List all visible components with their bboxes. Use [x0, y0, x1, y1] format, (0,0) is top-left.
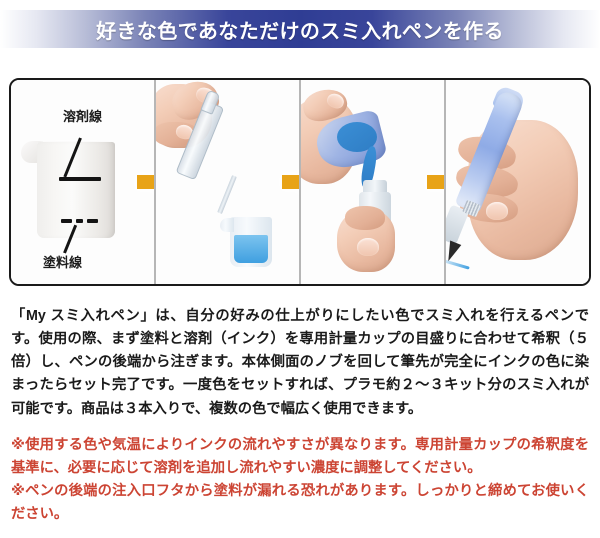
steps-illustration-frame: 溶剤線 塗料線 [9, 78, 591, 286]
right-arrow-icon [427, 167, 444, 197]
right-arrow-icon [137, 167, 154, 197]
paint-line-mark-dash-1 [61, 219, 72, 223]
paint-line-label: 塗料線 [43, 252, 82, 271]
step-panel-3-pour [299, 80, 444, 284]
page-title: 好きな色であなただけのスミ入れペンを作る [96, 15, 504, 44]
pour-photo [301, 80, 444, 284]
caution-note-1: ※使用する色や気温によりインクの流れやすさが異なります。専用計量カップの希釈度を… [11, 434, 589, 480]
caution-notes: ※使用する色や気温によりインクの流れやすさが異なります。専用計量カップの希釈度を… [11, 434, 589, 527]
solvent-line-mark [59, 177, 101, 181]
right-thumb-nail [357, 238, 379, 256]
paint-line-mark-dash-2 [76, 219, 83, 223]
step-panel-1-measuring-cup: 溶剤線 塗料線 [11, 80, 154, 284]
paint-line-mark-dash-3 [87, 219, 98, 223]
step-panel-2-pipette [154, 80, 299, 284]
caution-note-2: ※ペンの後端の注入口フタから塗料が漏れる恐れがあります。しっかりと締めてお使いく… [11, 480, 589, 526]
right-arrow-icon [282, 167, 299, 197]
right-finger [345, 206, 385, 230]
cup-body [37, 142, 115, 238]
finger-nail [486, 202, 508, 220]
product-description-paragraph: 「My スミ入れペン」は、自分の好みの仕上がりにしたい色でスミ入れを行えるペンで… [11, 305, 589, 421]
pipette-photo [156, 80, 299, 284]
finished-pen-photo [446, 80, 589, 284]
small-cup-spout [220, 218, 234, 232]
step-panel-4-finished-pen [444, 80, 589, 284]
measuring-cup-diagram: 溶剤線 塗料線 [11, 80, 154, 284]
pipette-tip [217, 175, 237, 214]
header-banner: 好きな色であなただけのスミ入れペンを作る [0, 10, 600, 48]
blue-paint-in-cup [234, 235, 268, 263]
solvent-line-label: 溶剤線 [63, 106, 102, 125]
product-description-page: 好きな色であなただけのスミ入れペンを作る 溶剤線 塗料線 [0, 0, 600, 538]
